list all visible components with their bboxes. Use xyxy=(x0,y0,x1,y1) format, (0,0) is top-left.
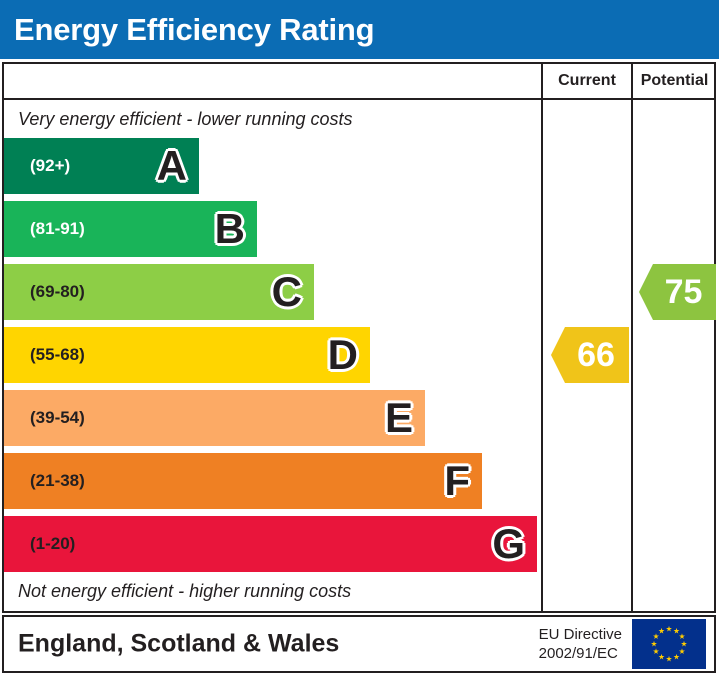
legend-very-efficient: Very energy efficient - lower running co… xyxy=(18,109,353,130)
rating-table: Current Potential Very energy efficient … xyxy=(2,62,716,613)
band-d-letter: D xyxy=(328,334,358,376)
band-b: (81-91)B xyxy=(4,201,257,257)
footer-directive-line1: EU Directive xyxy=(539,625,622,644)
band-b-letter: B xyxy=(215,208,245,250)
chart-title-bar: Energy Efficiency Rating xyxy=(0,0,719,59)
rating-value-current: 66 xyxy=(565,338,615,372)
footer-directive: EU Directive 2002/91/EC xyxy=(539,625,622,663)
band-e: (39-54)E xyxy=(4,390,425,446)
column-divider-potential xyxy=(631,100,633,611)
band-f: (21-38)F xyxy=(4,453,482,509)
band-c-range: (69-80) xyxy=(30,282,85,302)
column-header-potential: Potential xyxy=(631,64,716,98)
epc-chart: Energy Efficiency Rating Current Potenti… xyxy=(0,0,719,675)
column-header-current-label: Current xyxy=(558,72,616,90)
rating-value-potential: 75 xyxy=(653,275,703,309)
column-divider-current xyxy=(541,100,543,611)
column-header-potential-label: Potential xyxy=(641,72,709,90)
rating-arrow-potential: 75 xyxy=(639,264,716,320)
footer-directive-line2: 2002/91/EC xyxy=(539,644,622,663)
rating-arrow-current: 66 xyxy=(551,327,629,383)
column-header-row: Current Potential xyxy=(4,64,714,100)
column-header-current: Current xyxy=(541,64,631,98)
bands-area: Very energy efficient - lower running co… xyxy=(4,100,541,611)
band-g-letter: G xyxy=(492,523,525,565)
band-e-letter: E xyxy=(385,397,413,439)
eu-flag-icon xyxy=(632,619,706,669)
band-d: (55-68)D xyxy=(4,327,370,383)
band-g-range: (1-20) xyxy=(30,534,75,554)
band-a: (92+)A xyxy=(4,138,199,194)
band-a-letter: A xyxy=(157,145,187,187)
band-d-range: (55-68) xyxy=(30,345,85,365)
band-a-range: (92+) xyxy=(30,156,70,176)
chart-footer: England, Scotland & Wales EU Directive 2… xyxy=(2,615,716,673)
legend-not-efficient: Not energy efficient - higher running co… xyxy=(18,581,351,602)
footer-region-label: England, Scotland & Wales xyxy=(18,630,339,659)
band-f-letter: F xyxy=(444,460,470,502)
page-title: Energy Efficiency Rating xyxy=(14,12,374,48)
band-b-range: (81-91) xyxy=(30,219,85,239)
band-e-range: (39-54) xyxy=(30,408,85,428)
band-c: (69-80)C xyxy=(4,264,314,320)
band-f-range: (21-38) xyxy=(30,471,85,491)
band-c-letter: C xyxy=(272,271,302,313)
band-g: (1-20)G xyxy=(4,516,537,572)
